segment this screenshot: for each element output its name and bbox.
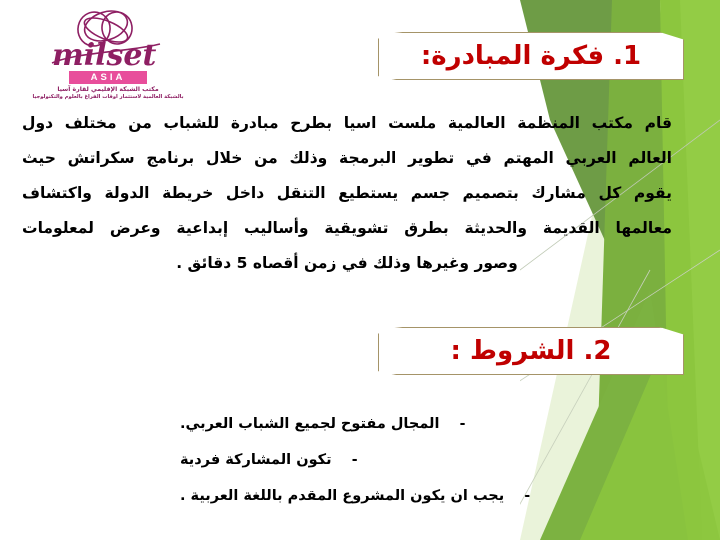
list-item: - المجال مفتوح لجميع الشباب العربي. <box>180 406 595 442</box>
svg-text:milset: milset <box>52 38 157 70</box>
paragraph-line: وصور وغيرها وذلك في زمن أقصاه 5 دقائق . <box>22 246 672 281</box>
initiative-description-paragraph: قام مكتب المنظمة العالمية ملست اسيا بطرح… <box>22 106 672 281</box>
paragraph-line: قام مكتب المنظمة العالمية ملست اسيا بطرح… <box>22 106 672 141</box>
list-item-label: يجب ان يكون المشروع المقدم باللغة العربي… <box>180 478 504 514</box>
presentation-slide: milset ASIA مكتب الشبكة الإقليمي لقارة آ… <box>0 0 720 540</box>
list-item-label: المجال مفتوح لجميع الشباب العربي. <box>180 406 439 442</box>
list-item: - يجب ان يكون المشروع المقدم باللغة العر… <box>180 478 595 514</box>
list-item-label: تكون المشاركة فردية <box>180 442 332 478</box>
paragraph-line: معالمها القديمة والحديثة بطرق تشويقية وأ… <box>22 211 672 246</box>
section-banner-title: 1. فكرة المبادرة: <box>421 41 641 71</box>
bullet-marker: - <box>504 478 530 514</box>
conditions-list: - المجال مفتوح لجميع الشباب العربي. - تك… <box>180 406 595 514</box>
logo-arabic-line-2: بالشبكة العالمية لاستثمار اوقات الفراغ ب… <box>18 94 198 101</box>
paragraph-line: العالم العربي المهتم في تطوير البرمجة وذ… <box>22 141 672 176</box>
milset-asia-logo: milset ASIA مكتب الشبكة الإقليمي لقارة آ… <box>18 8 198 100</box>
paragraph-line: يقوم كل مشارك بتصميم جسم يستطيع التنقل د… <box>22 176 672 211</box>
logo-arabic-line-1: مكتب الشبكة الإقليمي لقارة آسيا <box>18 86 198 94</box>
logo-asia-badge: ASIA <box>69 71 147 84</box>
bullet-marker: - <box>332 442 358 478</box>
section-banner-title: 2. الشروط : <box>451 336 612 366</box>
logo-emblem-icon: milset <box>18 8 198 70</box>
bullet-marker: - <box>439 406 465 442</box>
section-banner-initiative-idea: 1. فكرة المبادرة: <box>378 32 684 80</box>
list-item: - تكون المشاركة فردية <box>180 442 595 478</box>
section-banner-conditions: 2. الشروط : <box>378 327 684 375</box>
